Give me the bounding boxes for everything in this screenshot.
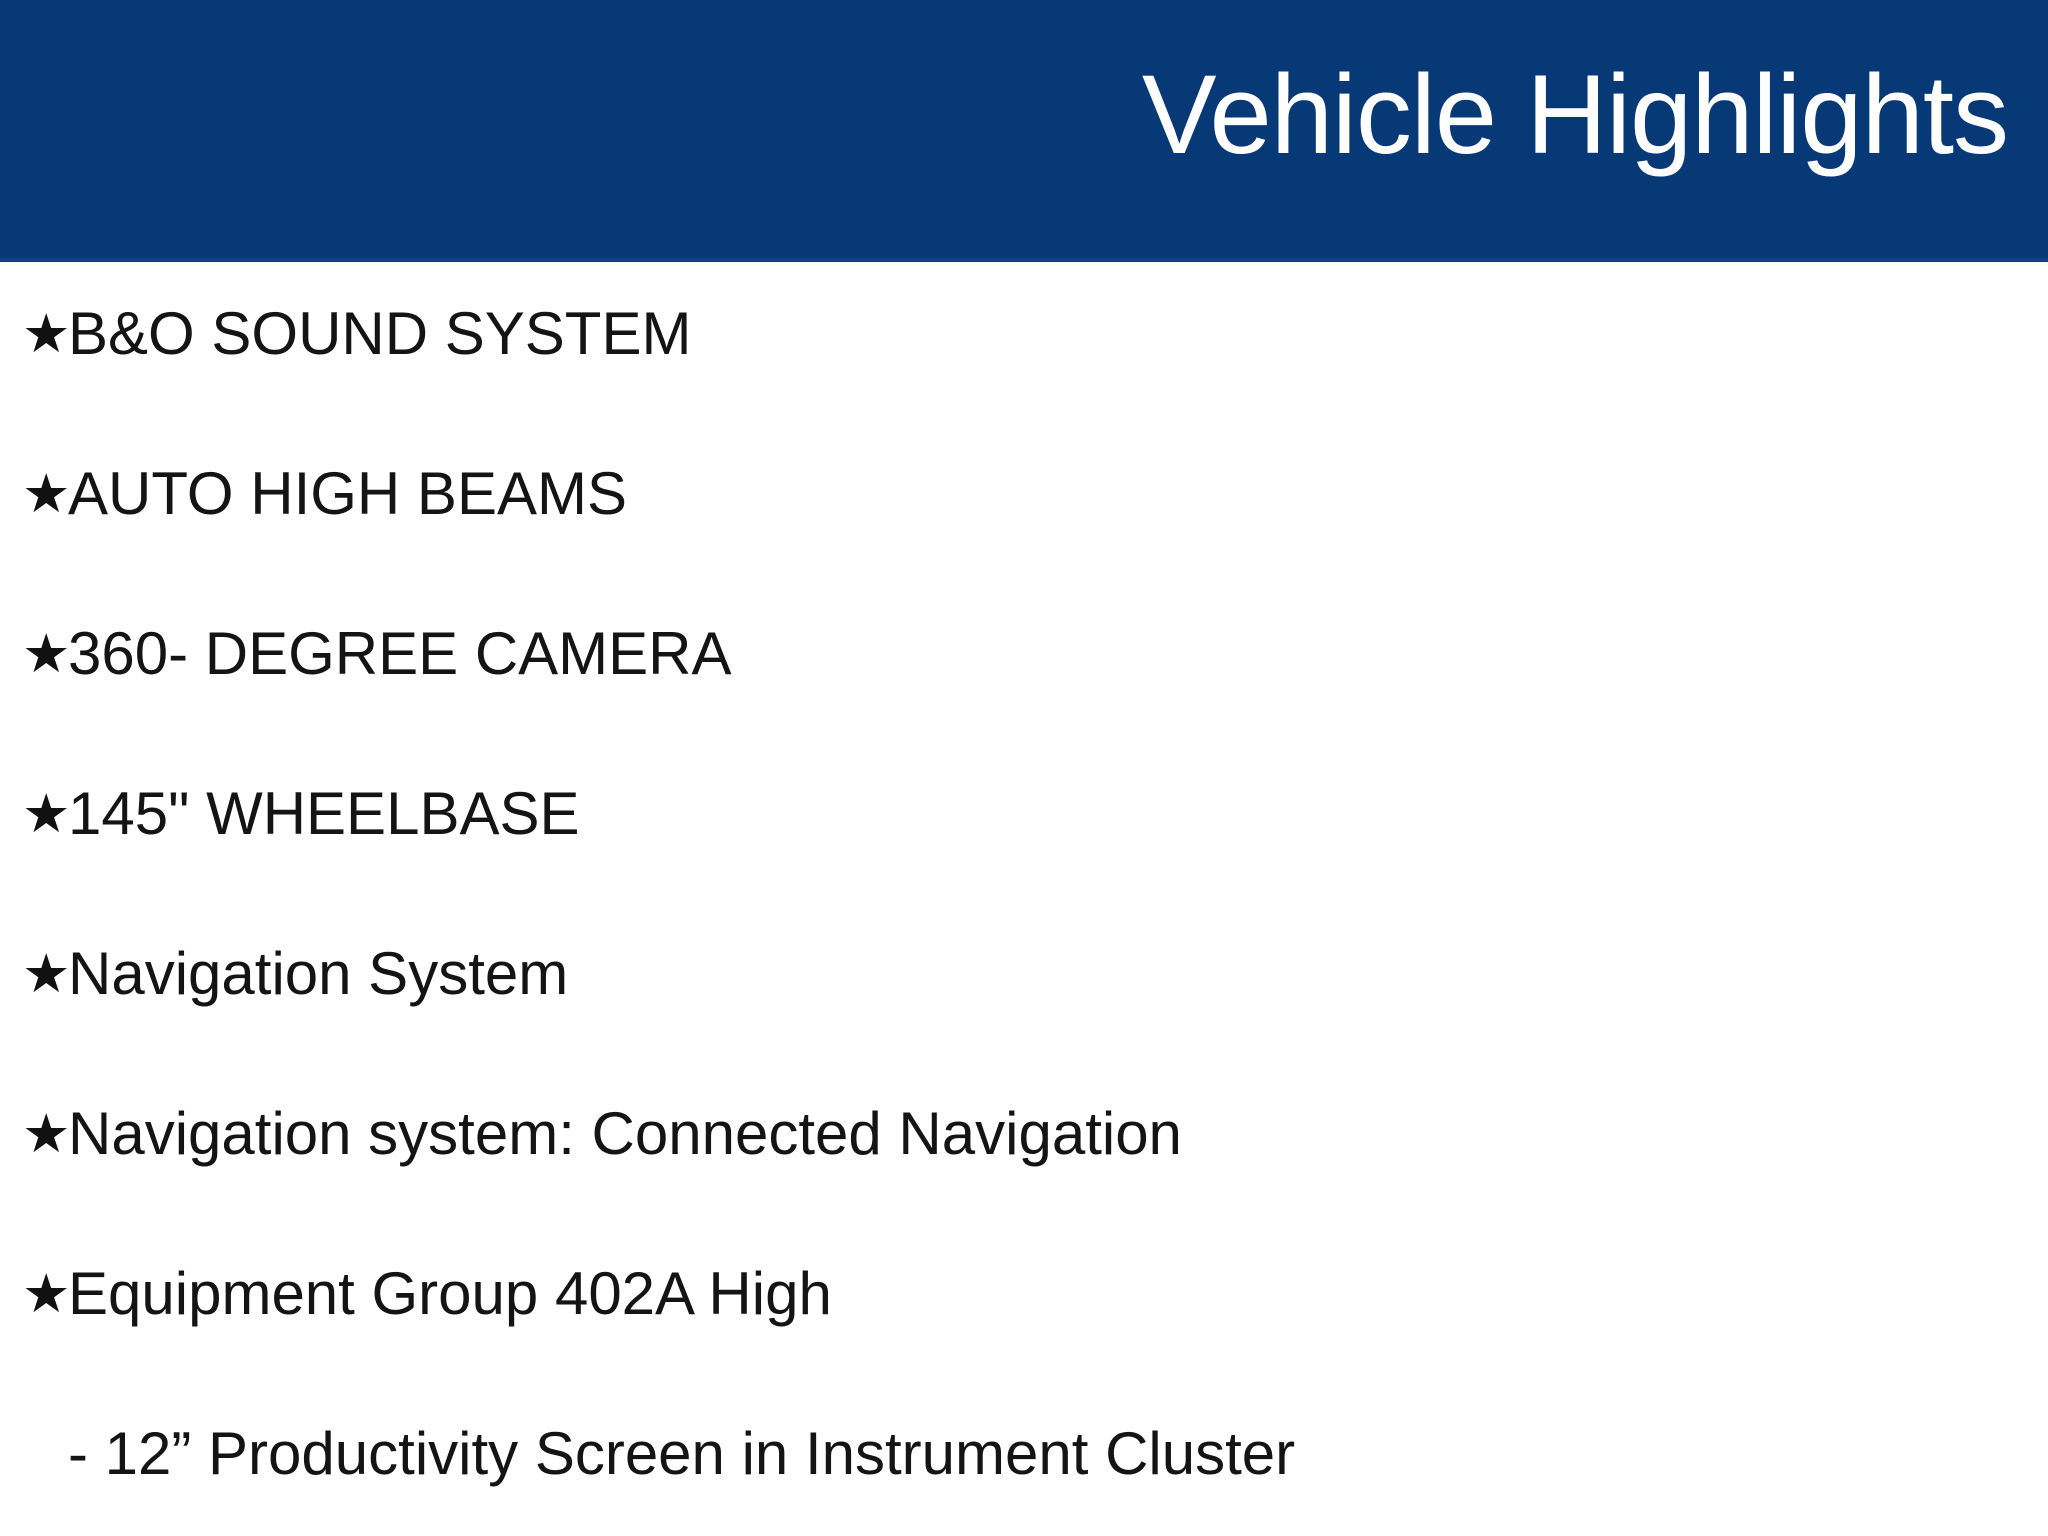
list-item: ★ B&O SOUND SYSTEM [22, 298, 2048, 458]
highlight-label: B&O SOUND SYSTEM [68, 298, 691, 370]
list-item: ★ 360- DEGREE CAMERA [22, 618, 2048, 778]
star-icon: ★ [22, 618, 68, 690]
list-item: ★ 145" WHEELBASE [22, 778, 2048, 938]
highlights-list: ★ B&O SOUND SYSTEM ★ AUTO HIGH BEAMS ★ 3… [0, 262, 2048, 1536]
highlight-label: 360- DEGREE CAMERA [68, 618, 732, 690]
page-title: Vehicle Highlights [1142, 59, 2008, 171]
highlight-label: Equipment Group 402A High [68, 1258, 832, 1330]
highlight-label: Navigation System [68, 938, 568, 1010]
star-icon: ★ [22, 778, 68, 850]
list-sub-item: - 12” Productivity Screen in Instrument … [22, 1418, 2048, 1536]
highlight-label: AUTO HIGH BEAMS [68, 458, 627, 530]
list-item: ★ Equipment Group 402A High [22, 1258, 2048, 1418]
list-item: ★ Navigation system: Connected Navigatio… [22, 1098, 2048, 1258]
vehicle-highlights-slide: Vehicle Highlights ★ B&O SOUND SYSTEM ★ … [0, 0, 2048, 1536]
star-icon: ★ [22, 458, 68, 530]
star-icon: ★ [22, 1098, 68, 1170]
list-item: ★ AUTO HIGH BEAMS [22, 458, 2048, 618]
list-item: ★ Navigation System [22, 938, 2048, 1098]
star-icon: ★ [22, 298, 68, 370]
header-banner: Vehicle Highlights [0, 0, 2048, 262]
star-icon: ★ [22, 1258, 68, 1330]
star-icon: ★ [22, 938, 68, 1010]
highlight-label: Navigation system: Connected Navigation [68, 1098, 1182, 1170]
highlight-label: 145" WHEELBASE [68, 778, 580, 850]
sub-item-label: - 12” Productivity Screen in Instrument … [68, 1418, 1295, 1490]
